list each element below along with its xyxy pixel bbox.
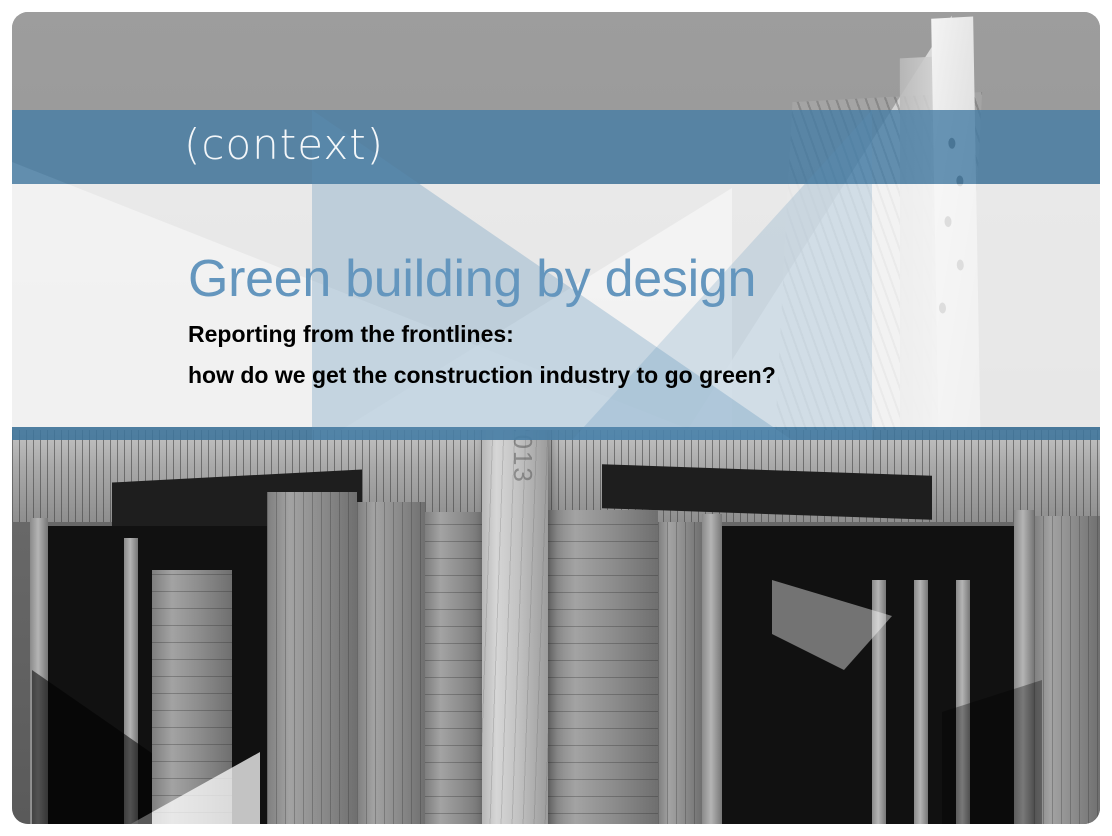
presentation-slide: 2013 (context) Green building by design … bbox=[12, 12, 1100, 824]
section-banner-band bbox=[12, 110, 1100, 184]
timber-building-photo: 2013 bbox=[12, 430, 1100, 824]
cladding-column-a bbox=[267, 492, 357, 824]
page-title: Green building by design bbox=[188, 250, 1028, 308]
divider-band bbox=[12, 427, 1100, 440]
subtitle-line-2: how do we get the construction industry … bbox=[188, 361, 1028, 390]
cladding-column-far-right bbox=[1034, 516, 1100, 824]
section-label: (context) bbox=[184, 124, 384, 166]
window-mullion-2 bbox=[914, 580, 928, 824]
cladding-column-b bbox=[357, 502, 425, 824]
title-block: Green building by design Reporting from … bbox=[188, 250, 1028, 390]
subtitle-line-1: Reporting from the frontlines: bbox=[188, 320, 1028, 349]
cladding-column-c bbox=[425, 512, 487, 824]
door-frame-right-outer bbox=[702, 514, 722, 824]
cladding-column-d bbox=[548, 510, 658, 824]
cladding-column-e bbox=[658, 522, 702, 824]
central-timber-post bbox=[482, 430, 548, 824]
